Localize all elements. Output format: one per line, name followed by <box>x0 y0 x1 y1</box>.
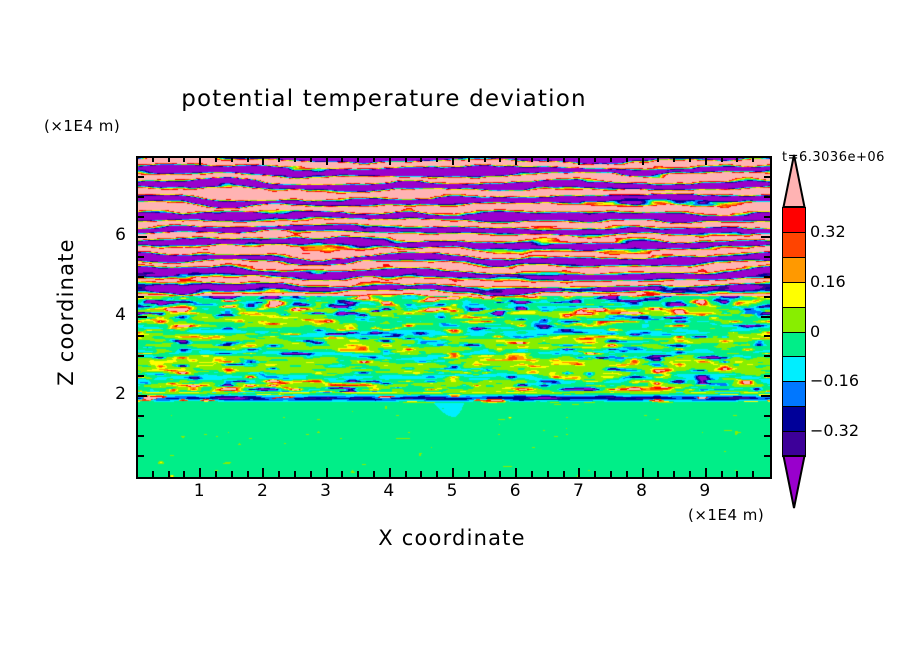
x-axis-unit-label: (×1E4 m) <box>688 506 764 524</box>
y-tick-mark-right <box>764 176 770 178</box>
x-tick-mark <box>278 471 280 477</box>
x-tick-mark <box>183 471 185 477</box>
y-tick-mark-right <box>764 216 770 218</box>
x-tick-mark <box>578 468 580 477</box>
y-tick-mark-right <box>764 276 770 278</box>
x-tick-mark-top <box>310 156 312 162</box>
colorbar-segment <box>782 207 806 233</box>
x-tick-mark-top <box>436 156 438 162</box>
x-tick-mark-top <box>752 156 754 162</box>
x-tick-mark <box>642 468 644 477</box>
x-tick-mark-top <box>499 156 501 162</box>
x-tick-mark-top <box>373 156 375 162</box>
x-tick-mark <box>231 471 233 477</box>
x-tick-mark <box>736 471 738 477</box>
y-tick-mark <box>138 276 144 278</box>
x-tick-mark-top <box>215 156 217 162</box>
y-tick-mark-right <box>764 196 770 198</box>
colorbar-tick-label: 0 <box>810 322 820 341</box>
y-tick-mark <box>138 176 144 178</box>
x-tick-mark <box>610 471 612 477</box>
y-tick-mark-right <box>764 375 770 377</box>
y-tick-mark-right <box>761 395 770 397</box>
colorbar-segment <box>782 356 806 382</box>
y-tick-label: 4 <box>96 305 126 325</box>
x-tick-mark-top <box>468 156 470 162</box>
y-tick-mark <box>138 236 147 238</box>
x-tick-mark <box>420 471 422 477</box>
x-tick-mark-top <box>183 156 185 162</box>
x-tick-label: 4 <box>374 481 404 501</box>
figure-canvas: potential temperature deviation (×1E4 m)… <box>0 0 904 654</box>
y-tick-mark-right <box>764 455 770 457</box>
x-tick-mark-top <box>278 156 280 162</box>
y-tick-mark <box>138 296 144 298</box>
x-tick-mark <box>515 468 517 477</box>
x-tick-mark <box>199 468 201 477</box>
x-tick-mark-top <box>231 156 233 162</box>
x-tick-mark-top <box>547 156 549 162</box>
x-tick-mark-top <box>705 156 707 165</box>
y-tick-mark-right <box>764 256 770 258</box>
x-tick-label: 5 <box>437 481 467 501</box>
x-tick-mark <box>468 471 470 477</box>
z-axis-unit-label: (×1E4 m) <box>44 117 120 135</box>
y-tick-mark <box>138 375 144 377</box>
x-tick-mark-top <box>610 156 612 162</box>
x-tick-mark <box>262 468 264 477</box>
x-tick-label: 2 <box>247 481 277 501</box>
x-tick-mark-top <box>578 156 580 165</box>
y-tick-mark-right <box>761 316 770 318</box>
colorbar-tick-label: 0.32 <box>810 222 846 241</box>
x-tick-mark <box>499 471 501 477</box>
x-tick-mark-top <box>262 156 264 165</box>
y-tick-label: 2 <box>96 384 126 404</box>
page-title: potential temperature deviation <box>0 86 768 112</box>
x-tick-mark <box>594 471 596 477</box>
x-tick-mark <box>452 468 454 477</box>
y-tick-mark <box>138 455 144 457</box>
y-tick-mark-right <box>764 335 770 337</box>
x-tick-mark <box>626 471 628 477</box>
x-tick-mark-top <box>626 156 628 162</box>
y-tick-label: 6 <box>96 225 126 245</box>
x-tick-mark-top <box>642 156 644 165</box>
x-tick-mark <box>357 471 359 477</box>
y-tick-mark-right <box>764 355 770 357</box>
colorbar-segment <box>782 282 806 308</box>
colorbar-tick-label: 0.16 <box>810 272 846 291</box>
x-tick-mark <box>152 471 154 477</box>
x-tick-mark <box>484 471 486 477</box>
y-tick-mark <box>138 335 144 337</box>
colorbar-over-arrow <box>782 153 806 209</box>
x-tick-mark <box>705 468 707 477</box>
y-tick-mark-right <box>761 236 770 238</box>
x-tick-mark-top <box>168 156 170 162</box>
x-tick-mark <box>294 471 296 477</box>
x-tick-mark-top <box>736 156 738 162</box>
plot-area[interactable] <box>136 156 772 479</box>
x-tick-mark-top <box>721 156 723 162</box>
colorbar-segment <box>782 257 806 283</box>
y-tick-mark <box>138 395 147 397</box>
x-tick-mark-top <box>389 156 391 165</box>
x-tick-mark-top <box>247 156 249 162</box>
contour-field <box>138 158 770 477</box>
y-tick-mark <box>138 316 147 318</box>
x-tick-mark-top <box>294 156 296 162</box>
colorbar-segment <box>782 332 806 358</box>
x-tick-mark-top <box>689 156 691 162</box>
colorbar-under-arrow <box>782 454 806 510</box>
x-tick-mark-top <box>594 156 596 162</box>
colorbar-segment <box>782 406 806 432</box>
x-tick-mark-top <box>657 156 659 162</box>
x-tick-mark-top <box>326 156 328 165</box>
x-tick-mark <box>721 471 723 477</box>
x-tick-label: 7 <box>563 481 593 501</box>
colorbar-tick-label: −0.16 <box>810 371 859 390</box>
y-tick-mark <box>138 216 144 218</box>
x-tick-label: 8 <box>627 481 657 501</box>
colorbar-segment <box>782 307 806 333</box>
y-axis-title: Z coordinate <box>54 212 78 412</box>
x-tick-mark-top <box>673 156 675 162</box>
x-tick-mark <box>168 471 170 477</box>
colorbar-tick-label: −0.32 <box>810 421 859 440</box>
x-tick-mark <box>673 471 675 477</box>
x-tick-mark-top <box>357 156 359 162</box>
x-tick-mark <box>657 471 659 477</box>
x-tick-mark <box>247 471 249 477</box>
x-tick-mark-top <box>341 156 343 162</box>
x-tick-mark <box>752 471 754 477</box>
x-tick-mark <box>405 471 407 477</box>
x-tick-mark-top <box>152 156 154 162</box>
colorbar-segment <box>782 232 806 258</box>
x-tick-mark-top <box>563 156 565 162</box>
x-tick-mark <box>531 471 533 477</box>
x-tick-mark-top <box>405 156 407 162</box>
x-tick-mark <box>326 468 328 477</box>
x-tick-mark-top <box>420 156 422 162</box>
x-tick-mark-top <box>531 156 533 162</box>
y-tick-mark <box>138 355 144 357</box>
x-tick-label: 1 <box>184 481 214 501</box>
x-tick-mark <box>310 471 312 477</box>
x-tick-mark <box>689 471 691 477</box>
x-axis-title: X coordinate <box>136 526 768 550</box>
x-tick-mark <box>215 471 217 477</box>
x-tick-mark <box>341 471 343 477</box>
colorbar[interactable] <box>782 207 806 456</box>
x-tick-mark <box>563 471 565 477</box>
y-tick-mark <box>138 435 144 437</box>
x-tick-mark-top <box>199 156 201 165</box>
colorbar-segment <box>782 381 806 407</box>
y-tick-mark <box>138 415 144 417</box>
x-tick-mark-top <box>515 156 517 165</box>
x-tick-mark-top <box>452 156 454 165</box>
y-tick-mark-right <box>764 415 770 417</box>
x-tick-mark <box>389 468 391 477</box>
x-tick-mark <box>436 471 438 477</box>
y-tick-mark <box>138 196 144 198</box>
x-tick-mark-top <box>484 156 486 162</box>
x-tick-mark <box>373 471 375 477</box>
y-tick-mark-right <box>764 435 770 437</box>
x-tick-label: 9 <box>690 481 720 501</box>
x-tick-label: 6 <box>500 481 530 501</box>
x-tick-label: 3 <box>311 481 341 501</box>
y-tick-mark <box>138 256 144 258</box>
x-tick-mark <box>547 471 549 477</box>
y-tick-mark-right <box>764 296 770 298</box>
